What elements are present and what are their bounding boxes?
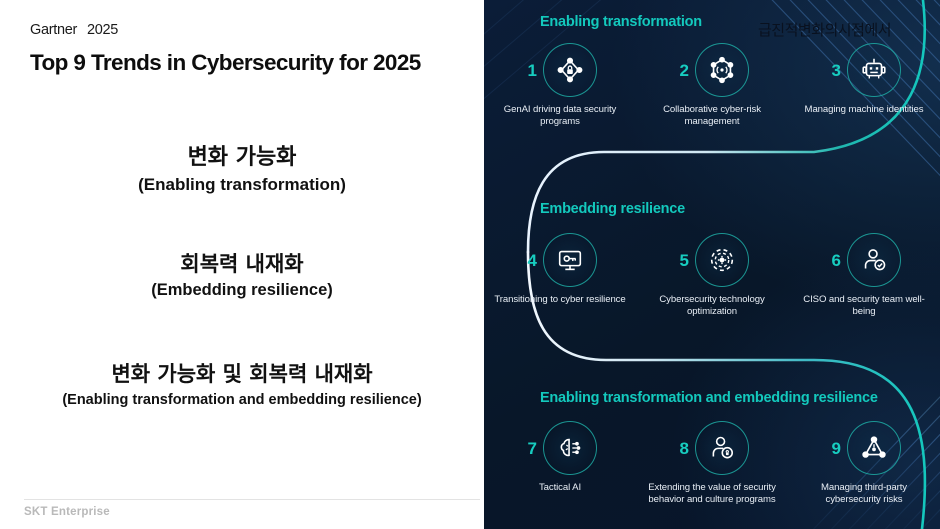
trend-5-number: 5 [675, 252, 689, 269]
trend-card-6-top: 6 [827, 232, 901, 288]
left-content-panel: Gartner 2025 Top 9 Trends in Cybersecuri… [0, 0, 484, 529]
trend-card-9[interactable]: 9 Managing third-part [788, 420, 940, 507]
trend-card-9-top: 9 [827, 420, 901, 476]
infographic-section-3: Enabling transformation and embedding re… [484, 380, 940, 529]
section-2-heading: Embedding resilience [540, 201, 685, 217]
gear-circle-icon [695, 233, 749, 287]
theme-block-3: 변화 가능화 및 회복력 내재화 (Enabling transformatio… [0, 361, 484, 412]
section-2-card-row: 4 Transitioning to cy [484, 232, 940, 319]
trend-8-label: Extending the value of security behavior… [641, 482, 783, 507]
trend-card-7[interactable]: 7 [484, 420, 636, 507]
trend-5-label: Cybersecurity technology optimization [641, 294, 783, 319]
triangle-network-icon [847, 421, 901, 475]
trend-9-number: 9 [827, 440, 841, 457]
brand-year-label: 2025 [87, 22, 118, 38]
theme-2-korean: 회복력 내재화 [0, 251, 484, 278]
trend-1-number: 1 [523, 62, 537, 79]
trend-card-4[interactable]: 4 Transitioning to cy [484, 232, 636, 319]
section-1-card-row: 1 Ge [484, 42, 940, 129]
trend-card-2[interactable]: 2 [636, 42, 788, 129]
trend-card-2-top: 2 [675, 42, 749, 98]
trend-card-8[interactable]: 8 Extending the value of security beha [636, 420, 788, 507]
person-lock-icon [695, 421, 749, 475]
section-3-heading: Enabling transformation and embedding re… [540, 390, 878, 406]
infographic-section-1: Enabling transformation 1 [484, 0, 940, 176]
trend-4-label: Transitioning to cyber resilience [494, 294, 625, 306]
trend-card-5[interactable]: 5 Cybersecurity technology optimization [636, 232, 788, 319]
trend-2-number: 2 [675, 62, 689, 79]
trend-card-8-top: 8 [675, 420, 749, 476]
hexagon-node-icon [695, 43, 749, 97]
theme-block-1: 변화 가능화 (Enabling transformation) [0, 144, 484, 198]
trend-card-1-top: 1 [523, 42, 597, 98]
theme-block-2: 회복력 내재화 (Embedding resilience) [0, 251, 484, 303]
theme-3-english: (Enabling transformation and embedding r… [0, 388, 484, 412]
trend-card-6[interactable]: 6 CISO and security team well-being [788, 232, 940, 319]
footer-divider [24, 499, 480, 500]
infographic-section-2: Embedding resilience 4 [484, 190, 940, 340]
trend-card-3[interactable]: 3 [788, 42, 940, 129]
trend-7-label: Tactical AI [539, 482, 581, 494]
trend-2-label: Collaborative cyber-risk management [641, 104, 783, 129]
trend-7-number: 7 [523, 440, 537, 457]
theme-3-korean: 변화 가능화 및 회복력 내재화 [0, 361, 484, 388]
trend-6-number: 6 [827, 252, 841, 269]
person-check-icon [847, 233, 901, 287]
trend-card-4-top: 4 [523, 232, 597, 288]
trend-1-label: GenAI driving data security programs [489, 104, 631, 129]
page-title: Top 9 Trends in Cybersecurity for 2025 [30, 50, 421, 76]
gartner-wordmark: Gartner [30, 22, 77, 38]
slide-root: Gartner 2025 Top 9 Trends in Cybersecuri… [0, 0, 940, 529]
monitor-key-icon [543, 233, 597, 287]
brain-circuit-icon [543, 421, 597, 475]
theme-1-korean: 변화 가능화 [0, 144, 484, 172]
infographic-panel: 급진적변화의시점에서 Enabling transformation 1 [484, 0, 940, 529]
footer-brand-label: SKT Enterprise [24, 506, 110, 518]
trend-card-5-top: 5 [675, 232, 749, 288]
trend-3-number: 3 [827, 62, 841, 79]
trend-3-label: Managing machine identities [805, 104, 924, 116]
robot-icon [847, 43, 901, 97]
theme-2-english: (Embedding resilience) [0, 278, 484, 303]
lock-network-icon [543, 43, 597, 97]
trend-4-number: 4 [523, 252, 537, 269]
trend-9-label: Managing third-party cybersecurity risks [793, 482, 935, 507]
trend-card-1[interactable]: 1 Ge [484, 42, 636, 129]
section-1-heading: Enabling transformation [540, 14, 702, 30]
trend-6-label: CISO and security team well-being [793, 294, 935, 319]
trend-card-7-top: 7 [523, 420, 597, 476]
theme-1-english: (Enabling transformation) [0, 172, 484, 198]
trend-8-number: 8 [675, 440, 689, 457]
trend-card-3-top: 3 [827, 42, 901, 98]
section-3-card-row: 7 [484, 420, 940, 507]
